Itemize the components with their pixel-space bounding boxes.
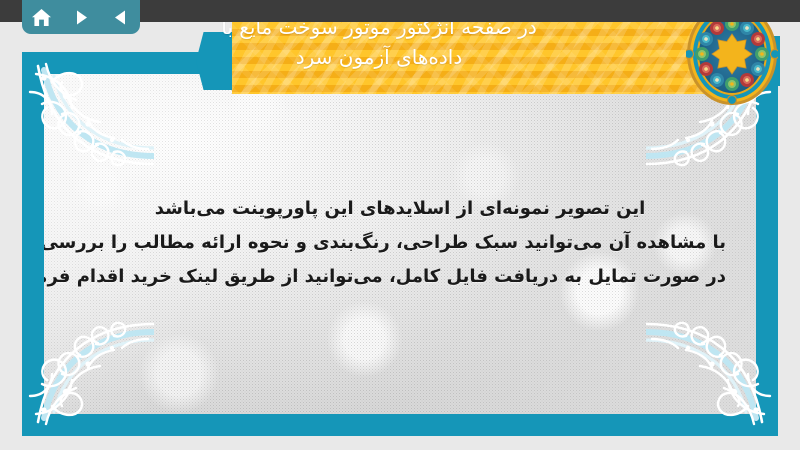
navigation-bar bbox=[22, 0, 140, 34]
slide-viewer: این تصویر نمونه‌ای از اسلایدهای این پاور… bbox=[0, 0, 800, 450]
body-line-1: این تصویر نمونه‌ای از اسلایدهای این پاور… bbox=[74, 192, 726, 226]
slide-content-area: این تصویر نمونه‌ای از اسلایدهای این پاور… bbox=[44, 74, 756, 414]
home-button[interactable] bbox=[29, 5, 55, 29]
body-line-2: با مشاهده آن می‌توانید سبک طراحی، رنگ‌بن… bbox=[74, 226, 726, 260]
forward-icon bbox=[73, 9, 90, 26]
slide-body-text: این تصویر نمونه‌ای از اسلایدهای این پاور… bbox=[74, 192, 726, 294]
forward-button[interactable] bbox=[68, 5, 94, 29]
window-top-bar bbox=[140, 0, 800, 22]
home-icon bbox=[31, 8, 52, 27]
body-line-3: در صورت تمایل به دریافت فایل کامل، می‌تو… bbox=[74, 260, 726, 294]
back-icon bbox=[112, 9, 129, 26]
back-button[interactable] bbox=[107, 5, 133, 29]
